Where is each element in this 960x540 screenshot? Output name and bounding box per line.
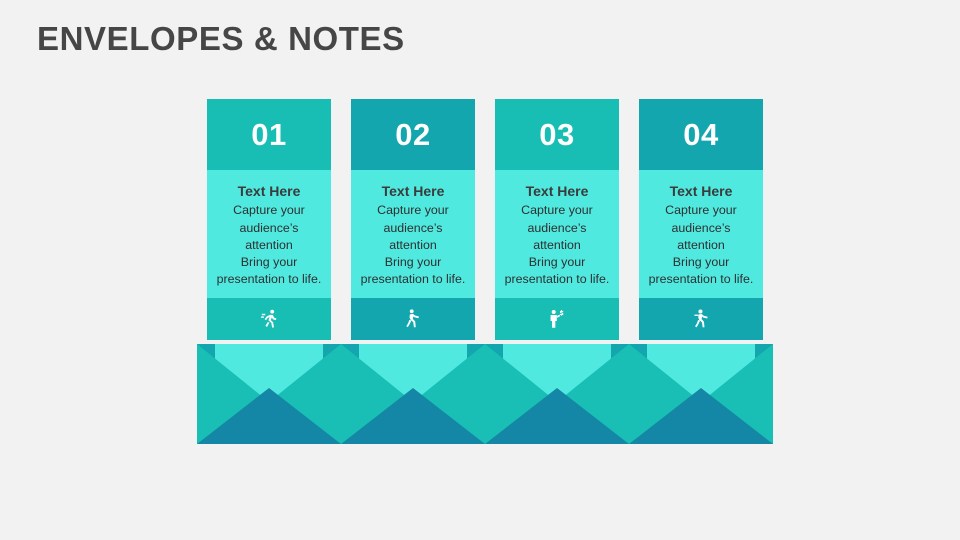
walking-person-icon (690, 308, 712, 330)
card-body: Text Here Capture your audience’s attent… (207, 170, 331, 298)
card-description: Capture your audience’s attention Bring … (209, 202, 329, 288)
card-heading: Text Here (353, 184, 473, 199)
card-header: 01 (207, 99, 331, 170)
card-header: 04 (639, 99, 763, 170)
note-card[interactable]: 04 Text Here Capture your audience’s att… (639, 99, 763, 340)
envelope-graphic (485, 344, 629, 444)
running-person-icon (258, 308, 280, 330)
person-with-money-icon (546, 308, 568, 330)
card-number: 04 (683, 119, 718, 150)
card-number: 02 (395, 119, 430, 150)
envelope-note-item[interactable]: 04 Text Here Capture your audience’s att… (629, 99, 773, 444)
card-header: 03 (495, 99, 619, 170)
envelope-note-item[interactable]: 03 Text Here Capture your audience’s att… (485, 99, 629, 444)
card-heading: Text Here (209, 184, 329, 199)
walking-person-icon (402, 308, 424, 330)
card-header: 02 (351, 99, 475, 170)
envelope-graphic (341, 344, 485, 444)
card-number: 03 (539, 119, 574, 150)
note-card[interactable]: 01 Text Here Capture your audience’s att… (207, 99, 331, 340)
card-body: Text Here Capture your audience’s attent… (639, 170, 763, 298)
card-description: Capture your audience’s attention Bring … (353, 202, 473, 288)
envelope-graphic (629, 344, 773, 444)
card-description: Capture your audience’s attention Bring … (497, 202, 617, 288)
card-icon-strip (639, 298, 763, 340)
card-description: Capture your audience’s attention Bring … (641, 202, 761, 288)
card-icon-strip (207, 298, 331, 340)
envelope-note-item[interactable]: 01 Text Here Capture your audience’s att… (197, 99, 341, 444)
slide-canvas: ENVELOPES & NOTES 01 Text Here (0, 0, 960, 540)
card-body: Text Here Capture your audience’s attent… (351, 170, 475, 298)
card-body: Text Here Capture your audience’s attent… (495, 170, 619, 298)
card-heading: Text Here (641, 184, 761, 199)
card-icon-strip (495, 298, 619, 340)
card-icon-strip (351, 298, 475, 340)
note-card[interactable]: 03 Text Here Capture your audience’s att… (495, 99, 619, 340)
card-heading: Text Here (497, 184, 617, 199)
envelope-graphic (197, 344, 341, 444)
note-card[interactable]: 02 Text Here Capture your audience’s att… (351, 99, 475, 340)
card-row: 01 Text Here Capture your audience’s att… (0, 0, 960, 540)
card-number: 01 (251, 119, 286, 150)
envelope-note-item[interactable]: 02 Text Here Capture your audience’s att… (341, 99, 485, 444)
